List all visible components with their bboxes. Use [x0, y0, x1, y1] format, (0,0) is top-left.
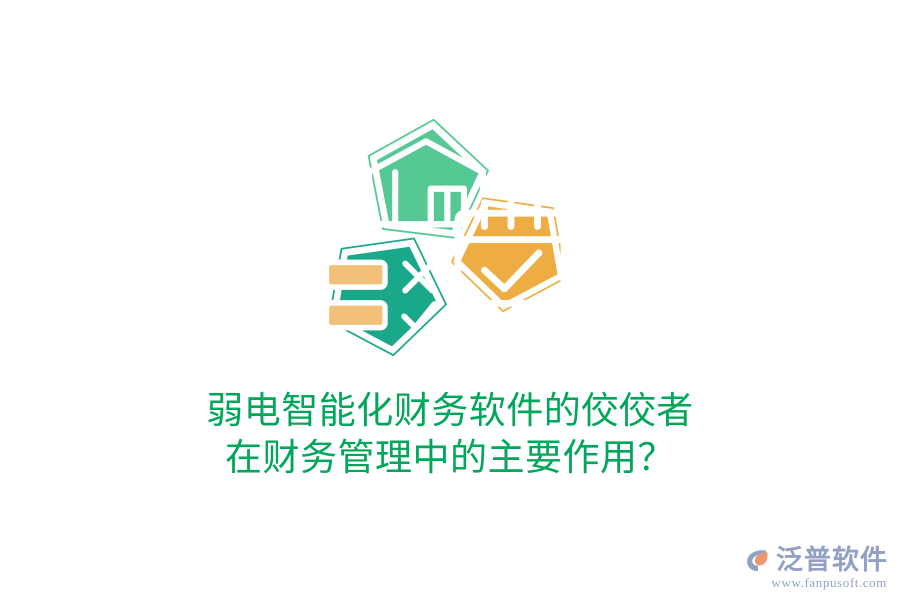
- illustration-pentagon-cluster: [300, 110, 600, 380]
- page-title: 弱电智能化财务软件的佼佼者 在财务管理中的主要作用？: [0, 388, 900, 482]
- brand-watermark: 泛普软件 www.fanpusoft.com: [744, 546, 888, 590]
- page-root: 弱电智能化财务软件的佼佼者 在财务管理中的主要作用？ 泛普软件 www.fanp…: [0, 0, 900, 600]
- brand-name: 泛普软件: [776, 546, 888, 574]
- brand-url: www.fanpusoft.com: [771, 575, 887, 590]
- page-title-line-1: 弱电智能化财务软件的佼佼者: [0, 388, 900, 435]
- fanpu-logo-mark: [744, 546, 772, 574]
- brand-watermark-row: 泛普软件: [744, 546, 888, 574]
- page-title-line-2: 在财务管理中的主要作用？: [0, 435, 900, 482]
- fanpu-logo-icon: [744, 546, 772, 574]
